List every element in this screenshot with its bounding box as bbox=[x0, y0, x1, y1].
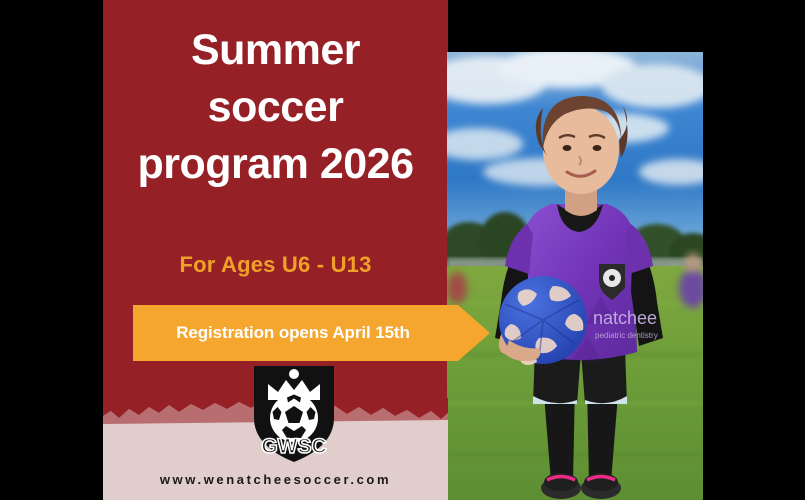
age-range-subtitle: For Ages U6 - U13 bbox=[103, 252, 448, 278]
svg-text:natchee: natchee bbox=[593, 308, 657, 328]
poster-headline: Summer soccer program 2026 bbox=[103, 22, 448, 192]
registration-banner: Registration opens April 15th bbox=[133, 305, 490, 361]
crest-lettering: GWSC bbox=[261, 435, 326, 458]
soccer-player-photo: natchee pediatric dentistry bbox=[447, 52, 703, 500]
website-url: www.wenatcheesoccer.com bbox=[103, 472, 448, 487]
headline-line-2: soccer bbox=[103, 79, 448, 136]
club-crest-logo: GWSC bbox=[248, 360, 340, 465]
headline-line-3: program 2026 bbox=[103, 136, 448, 193]
svg-text:pediatric dentistry: pediatric dentistry bbox=[595, 331, 658, 340]
headline-line-1: Summer bbox=[103, 22, 448, 79]
poster-canvas: natchee pediatric dentistry bbox=[0, 0, 805, 500]
registration-banner-text: Registration opens April 15th bbox=[133, 305, 453, 361]
